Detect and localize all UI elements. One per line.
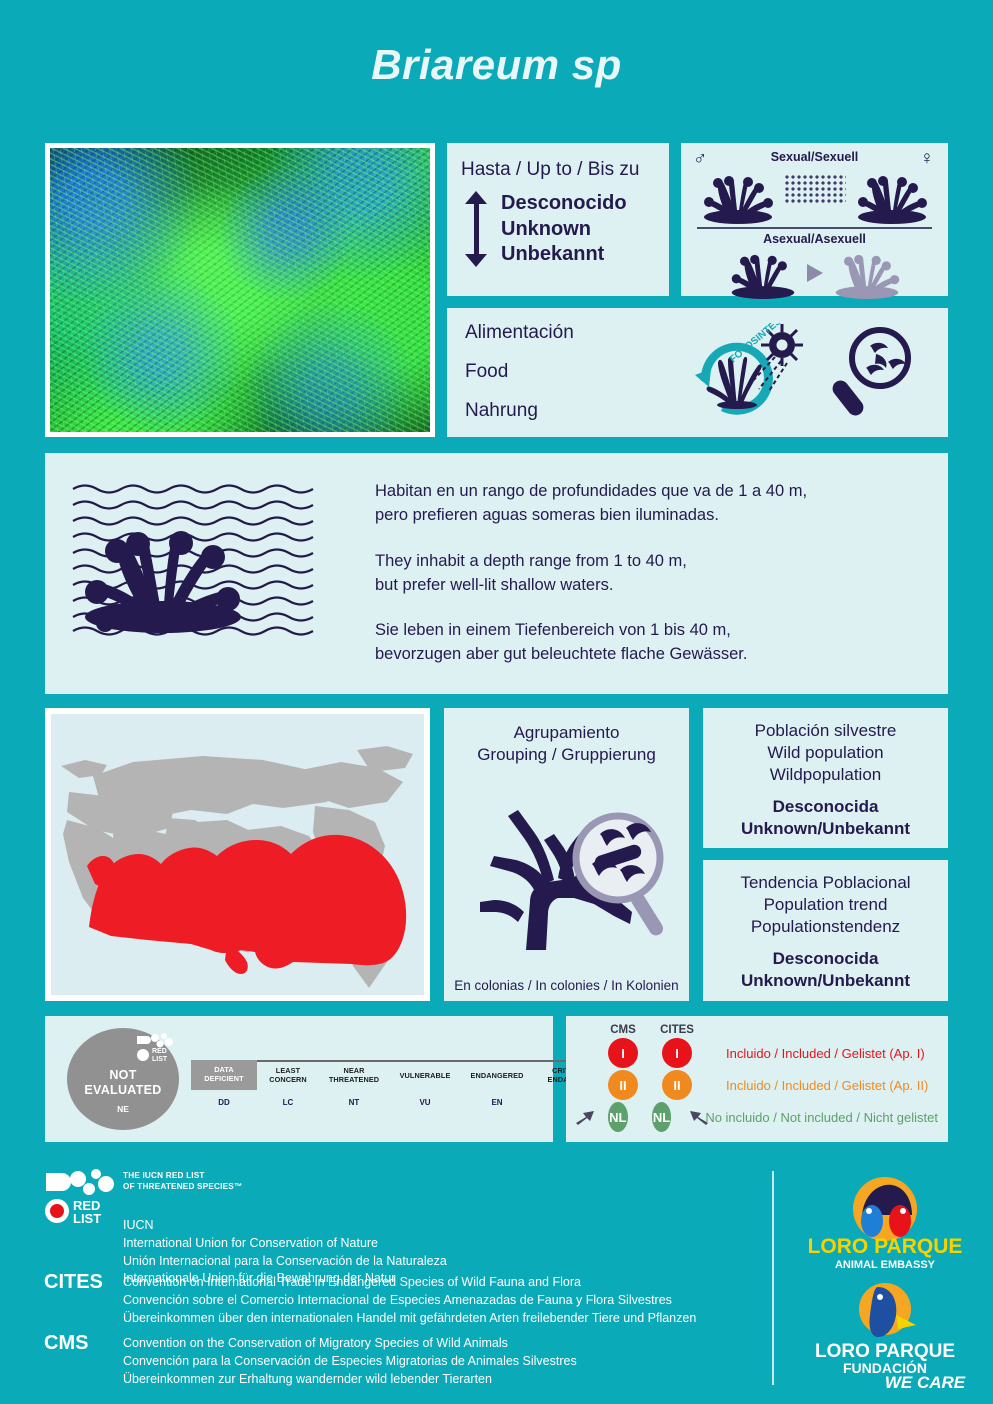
lpf-tagline: WE CARE <box>885 1373 966 1391</box>
iucn-line-2: Unión Internacional para la Conservación… <box>123 1253 447 1271</box>
size-value-de: Unbekannt <box>501 242 627 268</box>
population-trend-value-es: Desconocida <box>711 948 940 970</box>
world-distribution-map <box>51 714 424 995</box>
footer-key-cms: CMS <box>44 1332 88 1355</box>
plankton-magnifier-icon <box>832 326 918 420</box>
red-list-mini-logo-icon: RED LIST <box>135 1033 175 1067</box>
asexual-label: Asexual/Asexuell <box>691 232 938 246</box>
magnifier-ring-icon <box>576 816 666 938</box>
species-photo-panel <box>45 143 435 437</box>
male-symbol-icon: ♂ <box>693 148 707 170</box>
cms-badge-i: I <box>608 1038 638 1068</box>
population-trend-title-en: Population trend <box>711 894 940 916</box>
cms-line-1: Convención para la Conservación de Espec… <box>123 1353 577 1371</box>
iucn-category-code: EN <box>461 1098 533 1107</box>
convention-label: No incluido / Not included / Nicht gelis… <box>705 1110 938 1125</box>
iucn-category-label: VULNERABLE <box>389 1060 461 1090</box>
status-badge-code: NE <box>67 1104 179 1114</box>
iucn-red-list-logo-icon: RED LIST <box>44 1169 116 1239</box>
iucn-line-0: IUCN <box>123 1217 447 1235</box>
sexual-illustration <box>691 172 938 224</box>
cites-selection-arrow-icon <box>688 1108 710 1126</box>
cms-badge-ii: II <box>608 1070 638 1100</box>
population-trend-value: Desconocida Unknown/Unbekannt <box>711 948 940 992</box>
habitat-paragraph-es: Habitan en un rango de profundidades que… <box>375 480 918 528</box>
iucn-category-lc: LEAST CONCERNLC <box>257 1060 319 1107</box>
population-trend-value-en-de: Unknown/Unbekannt <box>711 970 940 992</box>
conventions-header: CMS CITES <box>576 1024 938 1036</box>
red-list-caption: THE IUCN RED LIST OF THREATENED SPECIES™ <box>123 1170 242 1193</box>
iucn-category-code: LC <box>257 1098 319 1107</box>
iucn-category-dd: DATA DEFICIENTDD <box>191 1060 257 1107</box>
coral-male-icon <box>698 174 778 224</box>
habitat-text: Habitan en un rango de profundidades que… <box>375 480 948 668</box>
footer: RED LIST THE IUCN RED LIST OF THREATENED… <box>0 1155 993 1404</box>
female-symbol-icon: ♀ <box>920 148 934 170</box>
habitat-paragraph-de: Sie leben in einem Tiefenbereich von 1 b… <box>375 619 918 667</box>
size-values: Desconocido Unknown Unbekannt <box>501 191 627 268</box>
population-trend-title-es: Tendencia Poblacional <box>711 872 940 894</box>
cites-line-2: Übereinkommen über den internationalen H… <box>123 1310 696 1328</box>
reproduction-panel: ♂ Sexual/Sexuell ♀ <box>681 143 948 296</box>
coral-clone-icon <box>829 253 905 299</box>
convention-header-cites: CITES <box>656 1024 698 1036</box>
lpf-name: LORO PARQUE <box>815 1341 955 1362</box>
branching-coral-magnifier-icon <box>454 766 679 979</box>
wild-population-title-es: Población silvestre <box>711 720 940 742</box>
food-icons: FOTOSINTESIS <box>675 323 930 423</box>
grouping-title-es: Agrupamiento <box>454 722 679 744</box>
iucn-category-en: ENDANGEREDEN <box>461 1060 533 1107</box>
iucn-category-code: NT <box>319 1098 389 1107</box>
size-value-es: Desconocido <box>501 191 627 217</box>
footer-entry-cms: Convention on the Conservation of Migrat… <box>123 1335 577 1388</box>
coral-parent-icon <box>725 253 801 299</box>
conventions-rows: IIIncluido / Included / Gelistet (Ap. I)… <box>576 1038 938 1132</box>
food-label-de: Nahrung <box>465 392 675 431</box>
habitat-panel: Habitan en un rango de profundidades que… <box>45 453 948 694</box>
grouping-panel: Agrupamiento Grouping / Gruppierung <box>444 708 689 1001</box>
footer-entry-cites: Convention on International Trade in End… <box>123 1274 696 1327</box>
loro-parque-name: LORO PARQUE <box>808 1235 963 1258</box>
cites-line-1: Convención sobre el Comercio Internacion… <box>123 1292 696 1310</box>
footer-key-cites: CITES <box>44 1271 103 1294</box>
iucn-category-label: ENDANGERED <box>461 1060 533 1090</box>
wild-population-title-en: Wild population <box>711 742 940 764</box>
loro-parque-tagline: ANIMAL EMBASSY <box>835 1259 936 1271</box>
population-trend-panel: Tendencia Poblacional Population trend P… <box>703 860 948 1001</box>
species-photo <box>50 148 430 432</box>
grouping-footer: En colonias / In colonies / In Kolonien <box>454 978 679 993</box>
iucn-category-code: VU <box>389 1098 461 1107</box>
loro-parque-fundacion-logo: LORO PARQUE FUNDACIÓN WE CARE <box>800 1281 970 1391</box>
svg-text:RED: RED <box>152 1048 167 1055</box>
wild-population-title-de: Wildpopulation <box>711 764 940 786</box>
coral-glow <box>50 148 430 432</box>
convention-row: IIIncluido / Included / Gelistet (Ap. I) <box>576 1038 938 1068</box>
wild-population-value-es: Desconocida <box>711 796 940 818</box>
convention-row: IIIIIncluido / Included / Gelistet (Ap. … <box>576 1070 938 1100</box>
sexual-header: ♂ Sexual/Sexuell ♀ <box>691 150 938 172</box>
convention-label: Incluido / Included / Gelistet (Ap. I) <box>726 1046 925 1061</box>
footer-divider <box>772 1171 774 1385</box>
wild-population-value-en-de: Unknown/Unbekannt <box>711 818 940 840</box>
grouping-title: Agrupamiento Grouping / Gruppierung <box>454 722 679 766</box>
cites-badge-ii: II <box>662 1070 692 1100</box>
cms-badge-nl: NL <box>608 1102 628 1132</box>
clone-arrow-icon <box>807 264 823 282</box>
iucn-category-nt: NEAR THREATENEDNT <box>319 1060 389 1107</box>
iucn-line-1: International Union for Conservation of … <box>123 1235 447 1253</box>
top-row: Hasta / Up to / Bis zu Desconocido Unkno… <box>45 143 948 439</box>
convention-row: NLNLNo incluido / Not included / Nicht g… <box>576 1102 938 1132</box>
divider <box>697 227 932 229</box>
iucn-category-label: NEAR THREATENED <box>319 1060 389 1090</box>
wild-population-title: Población silvestre Wild population Wild… <box>711 720 940 786</box>
iucn-status-panel: RED LIST NOT EVALUATED NE DATA DEFICIENT… <box>45 1016 553 1142</box>
coral-underwater-icon <box>45 453 375 694</box>
food-label-en: Food <box>465 353 675 392</box>
size-value-en: Unknown <box>501 217 627 243</box>
cites-badge-nl: NL <box>652 1102 672 1132</box>
food-labels: Alimentación Food Nahrung <box>465 314 675 431</box>
iucn-category-label: DATA DEFICIENT <box>191 1060 257 1090</box>
loro-parque-logo: LORO PARQUE ANIMAL EMBASSY <box>800 1171 970 1275</box>
sexual-label: Sexual/Sexuell <box>691 150 938 164</box>
convention-label: Incluido / Included / Gelistet (Ap. II) <box>726 1078 928 1093</box>
convention-header-cms: CMS <box>602 1024 644 1036</box>
cms-line-0: Convention on the Conservation of Migrat… <box>123 1335 577 1353</box>
population-trend-title-de: Populationstendenz <box>711 916 940 938</box>
title-bar: Briareum sp <box>0 0 993 130</box>
gamete-dots-icon <box>784 174 846 204</box>
cms-selection-arrow-icon <box>574 1108 596 1126</box>
status-badge-line2: EVALUATED <box>67 1083 179 1098</box>
svg-text:LIST: LIST <box>73 1211 101 1226</box>
svg-text:LIST: LIST <box>152 1056 168 1063</box>
asexual-illustration <box>691 247 938 299</box>
wild-population-value: Desconocida Unknown/Unbekannt <box>711 796 940 840</box>
size-row: Desconocido Unknown Unbekannt <box>461 191 655 268</box>
photosynthesis-icon: FOTOSINTESIS <box>687 323 807 423</box>
iucn-category-code: DD <box>191 1098 257 1107</box>
distribution-map-panel <box>45 708 430 1001</box>
coral-female-icon <box>852 174 932 224</box>
vertical-double-arrow-icon <box>465 191 487 267</box>
grouping-title-en-de: Grouping / Gruppierung <box>454 744 679 766</box>
population-trend-title: Tendencia Poblacional Population trend P… <box>711 872 940 938</box>
cites-badge-i: I <box>662 1038 692 1068</box>
size-label: Hasta / Up to / Bis zu <box>461 159 655 181</box>
size-panel: Hasta / Up to / Bis zu Desconocido Unkno… <box>447 143 669 296</box>
cites-line-0: Convention on International Trade in End… <box>123 1274 696 1292</box>
conventions-panel: CMS CITES IIIncluido / Included / Gelist… <box>566 1016 948 1142</box>
iucn-category-label: LEAST CONCERN <box>257 1060 319 1090</box>
page-title: Briareum sp <box>371 41 622 89</box>
status-badge-not-evaluated: RED LIST NOT EVALUATED NE <box>67 1028 179 1130</box>
habitat-paragraph-en: They inhabit a depth range from 1 to 40 … <box>375 550 918 598</box>
food-panel: Alimentación Food Nahrung <box>447 308 948 437</box>
cms-line-2: Übereinkommen zur Erhaltung wandernder w… <box>123 1371 577 1389</box>
iucn-category-vu: VULNERABLEVU <box>389 1060 461 1107</box>
wild-population-panel: Población silvestre Wild population Wild… <box>703 708 948 848</box>
food-label-es: Alimentación <box>465 314 675 353</box>
status-badge-line1: NOT <box>67 1068 179 1083</box>
